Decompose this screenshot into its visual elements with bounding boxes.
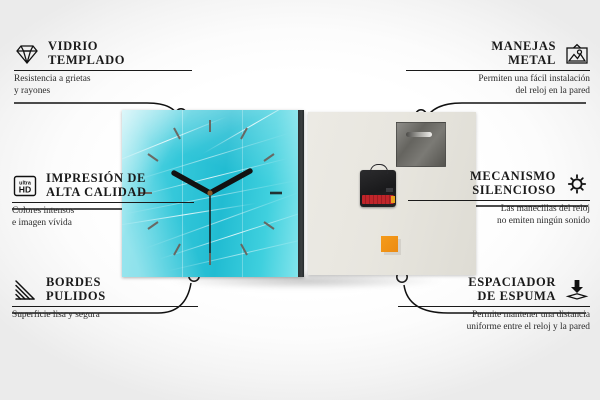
feature-title: IMPRESIÓN DE ALTA CALIDAD <box>46 172 147 199</box>
feature-espaciador-espuma: ESPACIADOR DE ESPUMA Permite mantener un… <box>398 276 590 333</box>
feature-impresion-alta-calidad: ultra HD IMPRESIÓN DE ALTA CALIDAD Color… <box>12 172 194 229</box>
svg-text:HD: HD <box>19 184 31 194</box>
feature-desc: Colores intensos e imagen vívida <box>12 206 194 229</box>
metal-hanger-plate <box>396 122 446 167</box>
divider <box>12 202 194 203</box>
feature-desc: Permite mantener una distancia uniforme … <box>398 310 590 333</box>
minute-hand <box>210 171 250 193</box>
foam-spacer-arrow-icon <box>564 278 590 302</box>
feature-mecanismo-silencioso: MECANISMO SILENCIOSO Las manecillas del … <box>408 170 590 227</box>
feature-vidrio-templado: VIDRIO TEMPLADO Resistencia a grietas y … <box>14 40 192 97</box>
feature-desc: Las manecillas del reloj no emiten ningú… <box>408 204 590 227</box>
infographic-canvas: VIDRIO TEMPLADO Resistencia a grietas y … <box>0 0 600 400</box>
divider <box>398 306 590 307</box>
movement-hanger-loop <box>370 164 388 174</box>
hand-center-cap <box>207 190 212 195</box>
quartz-movement <box>360 170 396 207</box>
battery-terminal <box>391 196 395 203</box>
divider <box>14 70 192 71</box>
movement-detail <box>386 188 393 192</box>
divider <box>12 306 198 307</box>
feature-title: MANEJAS METAL <box>491 40 556 67</box>
feature-title: ESPACIADOR DE ESPUMA <box>468 276 556 303</box>
foam-spacer <box>381 236 398 252</box>
feature-manejas-metal: MANEJAS METAL Permiten una fácil instala… <box>406 40 590 97</box>
feature-title: BORDES PULIDOS <box>46 276 106 303</box>
diamond-icon <box>14 42 40 66</box>
divider <box>408 200 590 201</box>
divider <box>406 70 590 71</box>
picture-hanger-icon <box>564 42 590 66</box>
polished-edges-icon <box>12 278 38 302</box>
hanger-slot <box>406 132 432 137</box>
feature-desc: Superficie lisa y segura <box>12 310 198 321</box>
feature-title: VIDRIO TEMPLADO <box>48 40 125 67</box>
clock-side-edge <box>298 110 304 277</box>
feature-desc: Resistencia a grietas y rayones <box>14 74 192 97</box>
ultra-hd-badge-icon: ultra HD <box>12 174 38 198</box>
feature-title: MECANISMO SILENCIOSO <box>470 170 556 197</box>
feature-bordes-pulidos: BORDES PULIDOS Superficie lisa y segura <box>12 276 198 322</box>
battery <box>362 195 394 204</box>
feature-desc: Permiten una fácil instalación del reloj… <box>406 74 590 97</box>
gear-icon <box>564 172 590 196</box>
